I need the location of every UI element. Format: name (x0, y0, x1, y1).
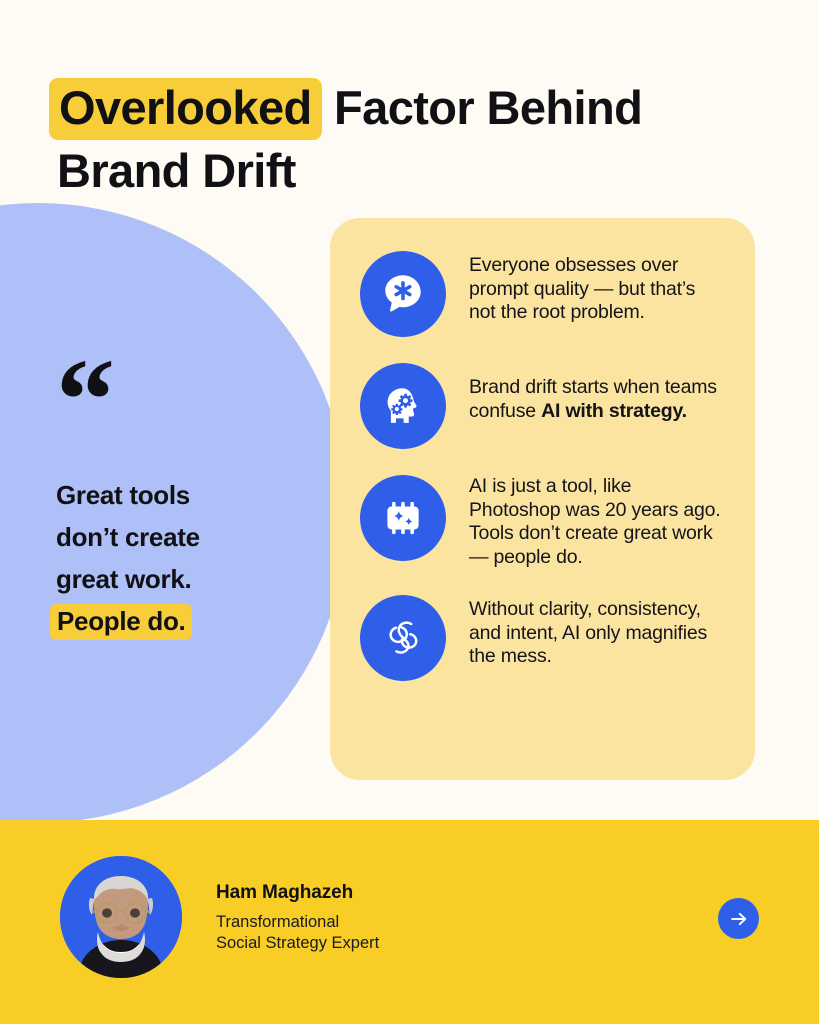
quote-line-2: don’t create (56, 522, 200, 552)
list-item-text: Everyone obsesses over prompt quality — … (469, 251, 725, 325)
tangled-knot-icon (360, 595, 446, 681)
quote-highlight: People do. (50, 604, 192, 640)
author-name: Ham Maghazeh (216, 882, 379, 904)
list-item-text: AI is just a tool, like Photoshop was 20… (469, 475, 725, 569)
quote-block: “ Great tools don’t create great work. P… (56, 358, 306, 642)
quote-line-1: Great tools (56, 480, 190, 510)
speech-bubble-sparkle-icon (360, 251, 446, 337)
quote-line-3: great work. (56, 564, 191, 594)
author-info: Ham Maghazeh Transformational Social Str… (216, 882, 379, 954)
list-item-text-before: Everyone obsesses over prompt quality — … (469, 254, 695, 323)
list-item: AI is just a tool, like Photoshop was 20… (360, 475, 725, 569)
list-item-text-before: AI is just a tool, like Photoshop was 20… (469, 475, 721, 568)
quote-mark-icon: “ (56, 358, 306, 428)
list-item-text: Without clarity, consistency, and intent… (469, 595, 725, 669)
list-item: Brand drift starts when teams confuse AI… (360, 363, 725, 449)
page-title: Overlooked Factor Behind Brand Drift (57, 76, 747, 202)
list-item-text-before: Without clarity, consistency, and intent… (469, 598, 707, 667)
author-role: Transformational Social Strategy Expert (216, 912, 379, 954)
list-item: Without clarity, consistency, and intent… (360, 595, 725, 681)
author-role-line-2: Social Strategy Expert (216, 934, 379, 952)
arrow-right-button[interactable] (718, 898, 759, 939)
avatar (60, 856, 182, 978)
list-item: Everyone obsesses over prompt quality — … (360, 251, 725, 337)
ai-chip-sparkle-icon (360, 475, 446, 561)
list-item-text: Brand drift starts when teams confuse AI… (469, 363, 725, 423)
headline-highlight: Overlooked (49, 78, 322, 140)
head-with-gears-icon (360, 363, 446, 449)
list-item-text-bold: AI with strategy. (541, 400, 687, 422)
arrow-right-icon (728, 908, 750, 930)
quote-text: Great tools don’t create great work. Peo… (56, 474, 306, 642)
points-card: Everyone obsesses over prompt quality — … (330, 218, 755, 780)
author-role-line-1: Transformational (216, 913, 339, 931)
